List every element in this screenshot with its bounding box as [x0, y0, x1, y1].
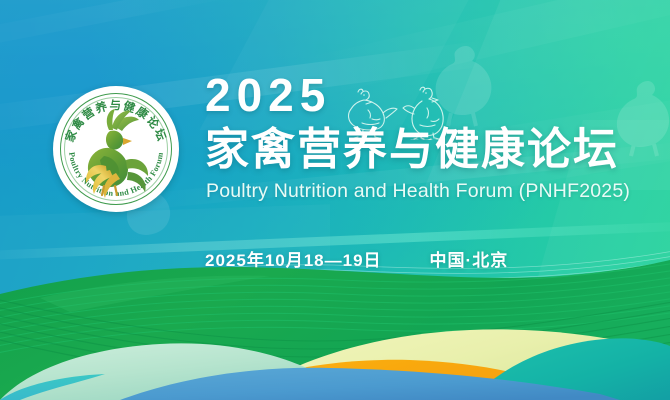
page-title: 家禽营养与健康论坛	[205, 126, 655, 174]
logo-graphic: 家禽营养与健康论坛 Poultry Nutrition and Health F…	[53, 86, 179, 212]
title-block: 2025 家禽营养与健康论坛 Poultry Nutrition and Hea…	[205, 72, 655, 204]
subtitle-en: Poultry Nutrition and Health Forum (PNHF…	[206, 180, 655, 203]
landscape-illustration	[0, 220, 670, 400]
forum-logo[interactable]: 家禽营养与健康论坛 Poultry Nutrition and Health F…	[53, 86, 179, 212]
year-label: 2025	[205, 72, 655, 118]
conference-banner: 家禽营养与健康论坛 Poultry Nutrition and Health F…	[0, 0, 670, 400]
